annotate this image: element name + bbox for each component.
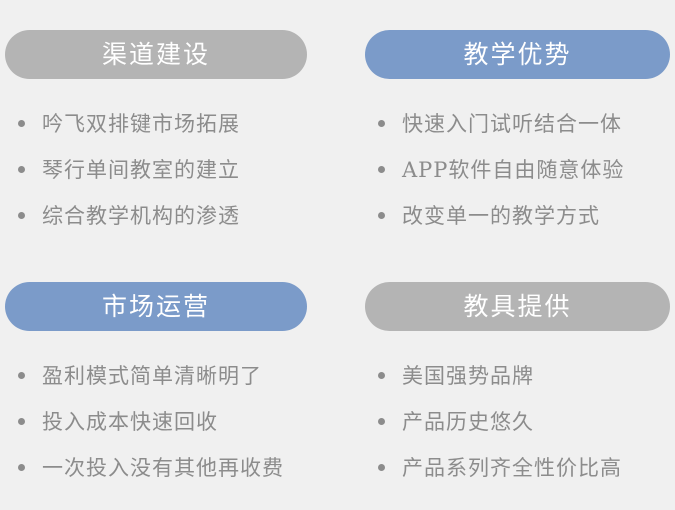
list-item-label: 产品系列齐全性价比高 — [402, 452, 622, 482]
list-item: 综合教学机构的渗透 — [18, 192, 240, 238]
bullet-dot-icon — [18, 464, 25, 471]
list-item: 盈利模式简单清晰明了 — [18, 352, 284, 398]
list-item-label: 快速入门试听结合一体 — [402, 108, 622, 138]
quadrant-board: 渠道建设 吟飞双排键市场拓展 琴行单间教室的建立 综合教学机构的渗透 教学优势 … — [0, 0, 675, 510]
list-item: 产品系列齐全性价比高 — [378, 444, 622, 490]
bullet-dot-icon — [378, 212, 385, 219]
bullet-list-teaching-advantage: 快速入门试听结合一体 APP软件自由随意体验 改变单一的教学方式 — [378, 100, 624, 238]
bullet-dot-icon — [378, 372, 385, 379]
bullet-dot-icon — [378, 166, 385, 173]
quadrant-header-channel-construction[interactable]: 渠道建设 — [5, 30, 307, 79]
list-item-label: 改变单一的教学方式 — [402, 200, 600, 230]
quadrant-market-operation: 市场运营 盈利模式简单清晰明了 投入成本快速回收 一次投入没有其他再收费 — [0, 252, 337, 507]
bullet-dot-icon — [18, 166, 25, 173]
quadrant-teaching-aids-supply: 教具提供 美国强势品牌 产品历史悠久 产品系列齐全性价比高 — [338, 252, 675, 507]
list-item: 改变单一的教学方式 — [378, 192, 624, 238]
list-item: 投入成本快速回收 — [18, 398, 284, 444]
quadrant-header-teaching-aids-supply[interactable]: 教具提供 — [365, 282, 670, 331]
bullet-dot-icon — [378, 464, 385, 471]
list-item-label: 吟飞双排键市场拓展 — [42, 108, 240, 138]
bullet-list-market-operation: 盈利模式简单清晰明了 投入成本快速回收 一次投入没有其他再收费 — [18, 352, 284, 490]
list-item: 美国强势品牌 — [378, 352, 622, 398]
quadrant-header-market-operation[interactable]: 市场运营 — [5, 282, 307, 331]
list-item-label: 综合教学机构的渗透 — [42, 200, 240, 230]
list-item-label: 产品历史悠久 — [402, 406, 534, 436]
list-item-label: APP软件自由随意体验 — [402, 154, 624, 184]
list-item: 吟飞双排键市场拓展 — [18, 100, 240, 146]
quadrant-header-teaching-advantage[interactable]: 教学优势 — [365, 30, 670, 79]
bullet-dot-icon — [378, 120, 385, 127]
bullet-list-teaching-aids-supply: 美国强势品牌 产品历史悠久 产品系列齐全性价比高 — [378, 352, 622, 490]
bullet-dot-icon — [18, 418, 25, 425]
bullet-dot-icon — [378, 418, 385, 425]
bullet-list-channel-construction: 吟飞双排键市场拓展 琴行单间教室的建立 综合教学机构的渗透 — [18, 100, 240, 238]
quadrant-channel-construction: 渠道建设 吟飞双排键市场拓展 琴行单间教室的建立 综合教学机构的渗透 — [0, 0, 337, 255]
bullet-dot-icon — [18, 372, 25, 379]
list-item: 产品历史悠久 — [378, 398, 622, 444]
list-item-label: 投入成本快速回收 — [42, 406, 218, 436]
list-item-label: 美国强势品牌 — [402, 360, 534, 390]
list-item-label: 一次投入没有其他再收费 — [42, 452, 284, 482]
bullet-dot-icon — [18, 212, 25, 219]
list-item-label: 琴行单间教室的建立 — [42, 154, 240, 184]
list-item: 快速入门试听结合一体 — [378, 100, 624, 146]
list-item: 琴行单间教室的建立 — [18, 146, 240, 192]
list-item: 一次投入没有其他再收费 — [18, 444, 284, 490]
bullet-dot-icon — [18, 120, 25, 127]
list-item-label: 盈利模式简单清晰明了 — [42, 360, 262, 390]
list-item: APP软件自由随意体验 — [378, 146, 624, 192]
quadrant-teaching-advantage: 教学优势 快速入门试听结合一体 APP软件自由随意体验 改变单一的教学方式 — [338, 0, 675, 255]
